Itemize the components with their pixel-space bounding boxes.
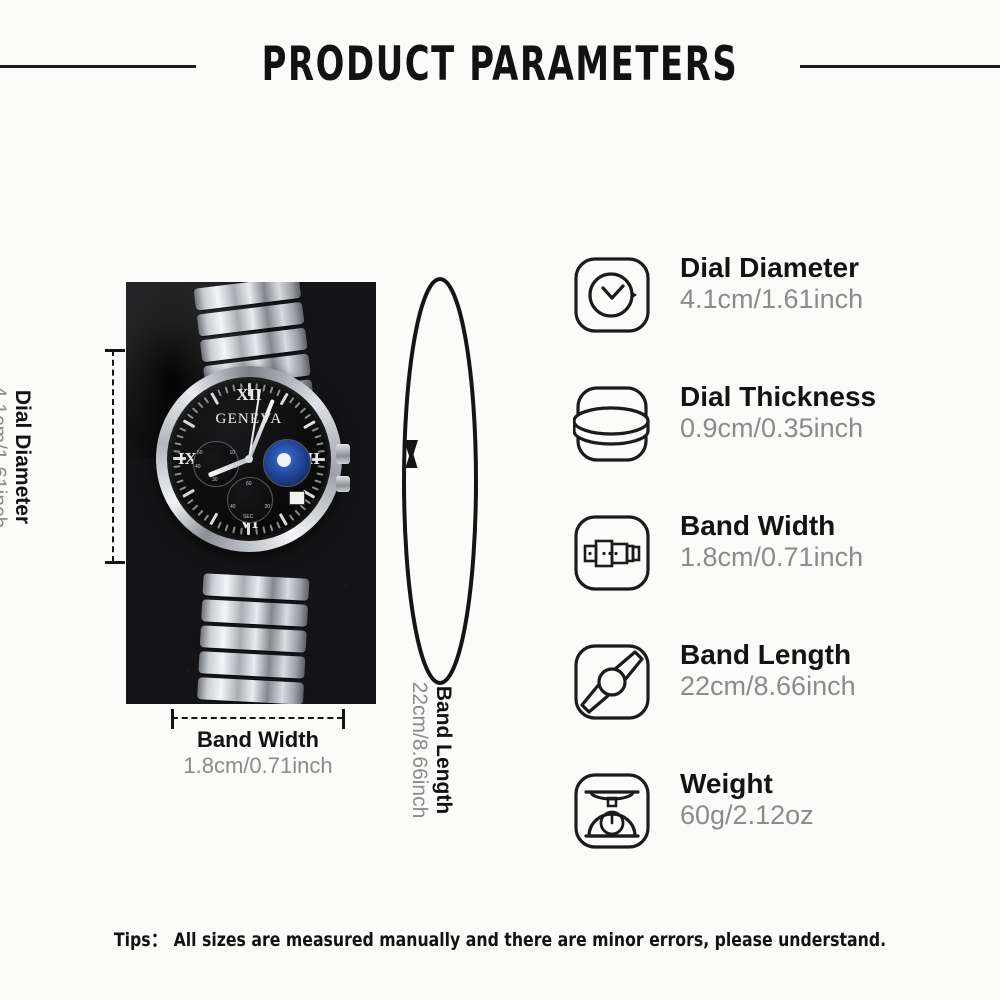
dial-tick [197,402,203,408]
dial-diameter-dimension-line [112,350,114,562]
subdial-moonphase [263,439,311,487]
spec-text-dial-thickness: Dial Thickness 0.9cm/0.35inch [680,382,876,443]
band-width-label-group: Band Width 1.8cm/0.71inch [108,727,408,780]
spec-title-weight: Weight [680,769,814,799]
spec-title-dial-thickness: Dial Thickness [680,382,876,412]
subdial-left-50: 50 [197,450,203,456]
spec-text-band-width: Band Width 1.8cm/0.71inch [680,511,863,572]
subdial-sec-60: 60 [246,481,252,487]
spec-title-band-width: Band Width [680,511,863,541]
dial-tick [314,479,321,483]
dial-diameter-label-group: Dial Diameter 4.1cm/1.61inch [0,352,34,562]
dial-tick [289,514,294,521]
dial-tick [209,513,218,526]
dial-tick [179,487,186,491]
dial-tick [233,526,236,533]
watch-case: XII IX III VI GENEVA 50 10 40 20 30 60 4… [156,366,342,552]
dial-diameter-value: 4.1cm/1.61inch [0,352,10,562]
dial-tick [204,397,209,404]
dial-tick [218,522,222,529]
tips-note: Tips： All sizes are measured manually an… [40,925,960,952]
dial-tick [276,389,280,396]
band-width-value: 1.8cm/0.71inch [108,753,408,779]
dial-tick [187,499,194,504]
spec-value-band-length: 22cm/8.66inch [680,672,856,701]
spec-text-dial-diameter: Dial Diameter 4.1cm/1.61inch [680,253,863,314]
band-length-label-group: Band Length 22cm/8.66inch [393,610,455,890]
dial-tick [269,386,273,393]
page-header: PRODUCT PARAMETERS [0,34,1000,98]
spec-row-dial-thickness: Dial Thickness 0.9cm/0.35inch [573,385,973,514]
band-width-dimension-line [172,717,343,719]
band-length-label: Band Length [431,610,455,890]
dial-diameter-label: Dial Diameter [10,352,34,562]
subdial-left-40: 40 [195,464,201,470]
dial-tick [277,522,281,529]
dial-tick [232,385,235,392]
dial-tick [174,443,181,446]
subdial-sec-label: SEC [243,514,253,520]
watch-product-photo: XII IX III VI GENEVA 50 10 40 20 30 60 4… [126,282,376,704]
diagonal-watch-strap-icon [573,643,651,721]
watch-dial: XII IX III VI GENEVA 50 10 40 20 30 60 4… [167,377,331,541]
dial-tick [176,435,183,439]
spec-title-band-length: Band Length [680,640,856,670]
dial-tick [270,524,274,531]
watch-dial-clock-icon [573,256,651,334]
dial-tick [312,486,319,490]
dial-tick [279,513,288,526]
hand-pin [245,455,253,463]
dial-tick [177,480,184,484]
kitchen-scale-icon [573,772,651,850]
dial-tick [262,384,265,391]
dial-tick [192,505,198,511]
dial-tick [225,387,229,394]
dial-tick [316,472,323,475]
dial-tick [316,442,323,445]
spec-row-weight: Weight 60g/2.12oz [573,772,973,901]
page-title: PRODUCT PARAMETERS [100,34,900,96]
spec-text-weight: Weight 60g/2.12oz [680,769,814,830]
product-parameters-page: PRODUCT PARAMETERS [0,0,1000,1000]
subdial-left-10: 10 [229,450,235,456]
spec-value-dial-diameter: 4.1cm/1.61inch [680,285,863,314]
dial-tick [175,473,182,476]
dial-tick [210,392,219,405]
moon-disc-icon [277,453,291,467]
spec-value-band-width: 1.8cm/0.71inch [680,543,863,572]
spec-row-band-width: Band Width 1.8cm/0.71inch [573,514,973,643]
disc-cylinder-icon [573,385,651,463]
measurement-diagram: XII IX III VI GENEVA 50 10 40 20 30 60 4… [0,240,520,820]
watch-band-buckle-icon [573,514,651,592]
subdial-sec-20: 20 [264,504,270,510]
dial-tick [263,526,266,533]
dial-brand-text: GENEVA [167,411,331,428]
specification-list: Dial Diameter 4.1cm/1.61inch Dial Thickn… [573,256,973,901]
date-window [289,491,305,505]
subdial-seconds: 60 40 20 SEC [227,477,273,523]
dial-tick [204,514,209,521]
dial-tick [198,510,204,516]
dial-tick [182,489,195,498]
dial-tick [225,524,229,531]
spec-row-dial-diameter: Dial Diameter 4.1cm/1.61inch [573,256,973,385]
subdial-sec-40: 40 [230,504,236,510]
watch-crown-icon [336,444,350,464]
spec-title-dial-diameter: Dial Diameter [680,253,863,283]
dial-tick [300,504,306,510]
watch-pusher-icon [336,476,350,492]
band-width-label: Band Width [108,727,408,753]
spec-row-band-length: Band Length 22cm/8.66inch [573,643,973,772]
spec-text-band-length: Band Length 22cm/8.66inch [680,640,856,701]
dial-tick [280,393,289,406]
spec-value-dial-thickness: 0.9cm/0.35inch [680,414,876,443]
dial-tick [289,397,294,404]
dial-tick [314,435,321,439]
bracelet-lower [196,571,309,704]
band-length-value: 22cm/8.66inch [407,610,431,890]
spec-value-weight: 60g/2.12oz [680,801,814,830]
dial-tick [295,510,301,516]
dial-tick [294,402,300,408]
dial-tick [304,499,311,504]
dial-tick [217,389,221,396]
dial-tick [179,428,186,432]
subdial-left-30: 30 [212,477,218,483]
